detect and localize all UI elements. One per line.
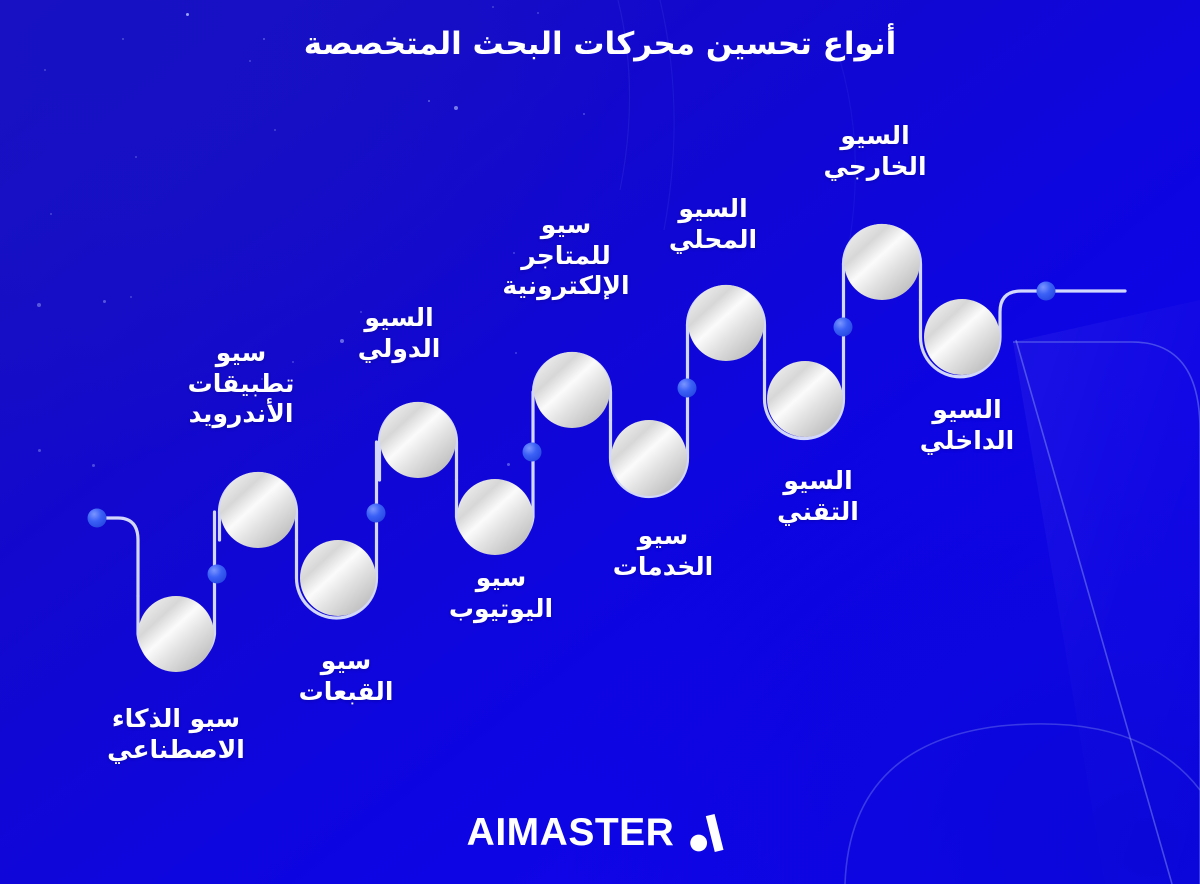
node-sphere-5 [457, 479, 533, 555]
node-sphere-2 [220, 472, 296, 548]
node-label-4: السيو الدولي [269, 303, 529, 364]
node-sphere-4 [380, 402, 456, 478]
node-label-10: السيو الخارجي [745, 121, 1005, 182]
aimaster-logo-mark [687, 810, 733, 856]
node-sphere-11 [924, 299, 1000, 375]
node-sphere-9 [767, 361, 843, 437]
connector-dot-7 [1037, 282, 1056, 301]
connector-dot-3 [367, 504, 386, 523]
connector-dot-5 [678, 379, 697, 398]
infographic-canvas: أنواع تحسين محركات البحث المتخصصة [0, 0, 1200, 884]
node-label-9: السيو التقني [688, 466, 948, 527]
connector-dot-2 [208, 565, 227, 584]
node-sphere-8 [688, 285, 764, 361]
node-label-3: سيو القبعات [216, 646, 476, 707]
node-sphere-6 [534, 352, 610, 428]
connector-dot-6 [834, 318, 853, 337]
node-sphere-3 [300, 540, 376, 616]
node-label-1: سيو الذكاء الاصطناعي [46, 704, 306, 765]
node-label-7: سيو الخدمات [533, 521, 793, 582]
node-label-8: السيو المحلي [583, 194, 843, 255]
connector-dot-4 [523, 443, 542, 462]
brand-logo: AIMASTER [467, 810, 734, 856]
node-sphere-1 [138, 596, 214, 672]
brand-name: AIMASTER [467, 811, 675, 855]
node-label-11: السيو الداخلي [837, 395, 1097, 456]
connector-dot-1 [88, 509, 107, 528]
node-sphere-10 [844, 224, 920, 300]
node-sphere-7 [611, 420, 687, 496]
